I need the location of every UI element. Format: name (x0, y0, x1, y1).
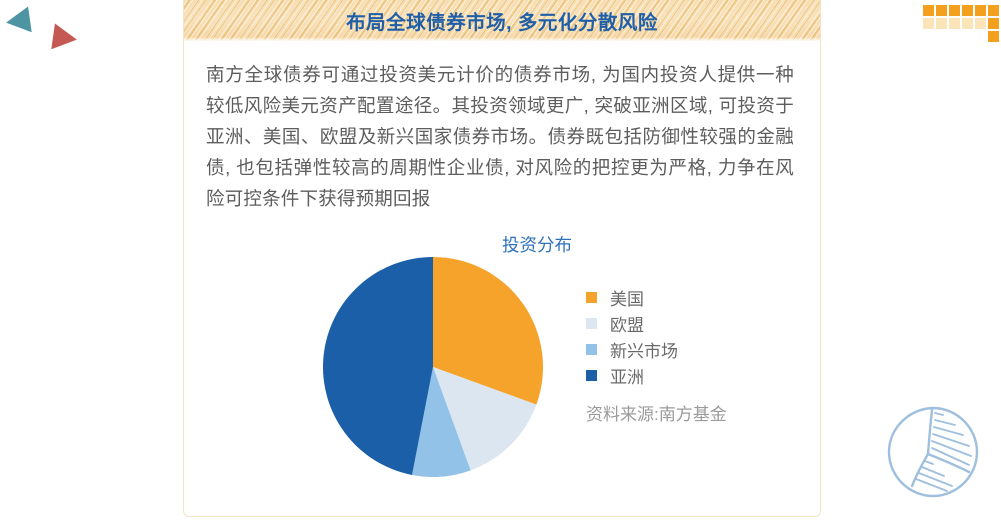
square-grid-decoration (923, 0, 1001, 46)
investment-distribution-chart: 投资分布 美国欧盟新兴市场亚洲 资料来源:南方基金 (206, 228, 794, 508)
decoration-square (988, 5, 999, 16)
triangle-left-icon (4, 6, 31, 35)
legend-swatch-icon (586, 344, 597, 355)
chart-title: 投资分布 (502, 232, 572, 257)
pie-slice (323, 257, 433, 475)
decoration-square-pale (936, 18, 947, 29)
legend-item-label: 美国 (610, 285, 644, 310)
legend-item: 欧盟 (586, 310, 796, 336)
sketch-pie-chart-icon (883, 402, 983, 502)
decoration-square-pale (923, 18, 934, 29)
legend-swatch-icon (586, 318, 597, 329)
legend-item: 美国 (586, 284, 796, 310)
card-header-banner: 布局全球债券市场, 多元化分散风险 (184, 0, 820, 41)
content-card: 布局全球债券市场, 多元化分散风险 南方全球债券可通过投资美元计价的债券市场, … (183, 0, 821, 517)
decoration-square-pale (949, 18, 960, 29)
decoration-square-pale (962, 18, 973, 29)
decoration-square (988, 31, 999, 42)
legend-swatch-icon (586, 370, 597, 381)
legend-item: 新兴市场 (586, 336, 796, 362)
legend-swatch-icon (586, 292, 597, 303)
decoration-square (936, 5, 947, 16)
legend-item-label: 欧盟 (610, 311, 644, 336)
decoration-square (988, 18, 999, 29)
card-body: 南方全球债券可通过投资美元计价的债券市场, 为国内投资人提供一种较低风险美元资产… (184, 41, 820, 508)
chart-legend: 美国欧盟新兴市场亚洲 资料来源:南方基金 (586, 284, 796, 425)
triangle-right-icon (51, 23, 78, 52)
decoration-square (975, 5, 986, 16)
pie-chart (323, 257, 543, 477)
body-paragraph: 南方全球债券可通过投资美元计价的债券市场, 为国内投资人提供一种较低风险美元资产… (206, 59, 794, 214)
top-left-decoration (0, 0, 120, 60)
legend-item: 亚洲 (586, 362, 796, 388)
decoration-square (949, 5, 960, 16)
chart-source-label: 资料来源:南方基金 (586, 400, 796, 425)
legend-item-label: 亚洲 (610, 363, 644, 388)
decoration-square (923, 5, 934, 16)
decoration-square-pale (975, 18, 986, 29)
decoration-square (962, 5, 973, 16)
legend-item-label: 新兴市场 (610, 337, 678, 362)
page-title: 布局全球债券市场, 多元化分散风险 (346, 6, 658, 35)
